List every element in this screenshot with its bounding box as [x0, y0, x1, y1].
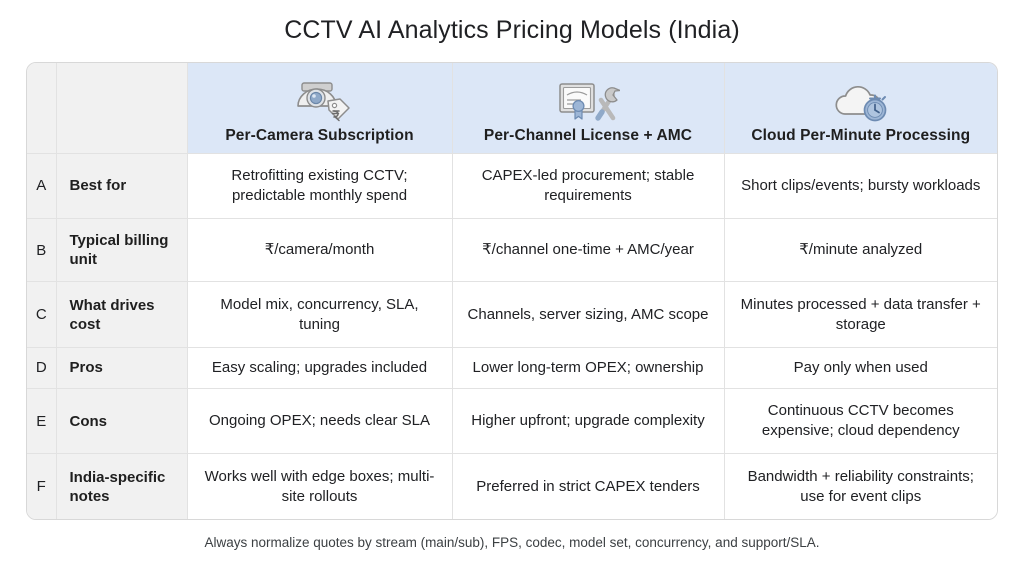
- table-row: A Best for Retrofitting existing CCTV; p…: [27, 153, 997, 219]
- column-header-label: Cloud Per-Minute Processing: [751, 127, 970, 145]
- column-header-label: Per-Camera Subscription: [225, 127, 413, 145]
- table-row: E Cons Ongoing OPEX; needs clear SLA Hig…: [27, 388, 997, 454]
- cell-cloud: Short clips/events; bursty workloads: [724, 153, 997, 219]
- cell-per-camera: Works well with edge boxes; multi-site r…: [187, 454, 452, 519]
- row-label: India-specific notes: [56, 454, 187, 519]
- row-letter: F: [27, 454, 56, 519]
- column-header-label: Per-Channel License + AMC: [484, 127, 692, 145]
- column-header-per-channel-license-amc[interactable]: Per-Channel License + AMC: [452, 63, 724, 153]
- table-row: F India-specific notes Works well with e…: [27, 454, 997, 519]
- cell-cloud: Bandwidth + reliability constraints; use…: [724, 454, 997, 519]
- table-row: C What drives cost Model mix, concurrenc…: [27, 282, 997, 348]
- row-letter: D: [27, 347, 56, 388]
- cell-per-camera: Retrofitting existing CCTV; predictable …: [187, 153, 452, 219]
- cell-cloud: Minutes processed + data transfer + stor…: [724, 282, 997, 348]
- cell-per-camera: Model mix, concurrency, SLA, tuning: [187, 282, 452, 348]
- table-row: D Pros Easy scaling; upgrades included L…: [27, 347, 997, 388]
- column-header-per-camera-subscription[interactable]: Per-Camera Subscription: [187, 63, 452, 153]
- row-letter: A: [27, 153, 56, 219]
- pricing-comparison-page: CCTV AI Analytics Pricing Models (India): [0, 0, 1024, 572]
- row-letter: B: [27, 219, 56, 282]
- dome-camera-price-tag-icon: [288, 79, 352, 125]
- cell-per-channel: Channels, server sizing, AMC scope: [452, 282, 724, 348]
- cell-per-channel: Higher upfront; upgrade complexity: [452, 388, 724, 454]
- page-title: CCTV AI Analytics Pricing Models (India): [0, 0, 1024, 46]
- row-label: Typical billing unit: [56, 219, 187, 282]
- row-label: Best for: [56, 153, 187, 219]
- row-label: What drives cost: [56, 282, 187, 348]
- table-header-row: Per-Camera Subscription: [27, 63, 997, 153]
- row-label: Pros: [56, 347, 187, 388]
- cell-per-channel: ₹/channel one-time + AMC/year: [452, 219, 724, 282]
- certificate-tools-icon: [556, 79, 620, 125]
- cell-per-channel: Preferred in strict CAPEX tenders: [452, 454, 724, 519]
- cell-cloud: ₹/minute analyzed: [724, 219, 997, 282]
- pricing-comparison-table: Per-Camera Subscription: [26, 62, 998, 520]
- cell-per-camera: Easy scaling; upgrades included: [187, 347, 452, 388]
- table-row: B Typical billing unit ₹/camera/month ₹/…: [27, 219, 997, 282]
- cell-per-camera: Ongoing OPEX; needs clear SLA: [187, 388, 452, 454]
- cell-per-camera: ₹/camera/month: [187, 219, 452, 282]
- footer-note: Always normalize quotes by stream (main/…: [0, 534, 1024, 552]
- header-corner-label: [56, 63, 187, 153]
- row-label: Cons: [56, 388, 187, 454]
- row-letter: C: [27, 282, 56, 348]
- cloud-stopwatch-icon: [829, 79, 893, 125]
- row-letter: E: [27, 388, 56, 454]
- column-header-cloud-per-minute-processing[interactable]: Cloud Per-Minute Processing: [724, 63, 997, 153]
- cell-per-channel: CAPEX-led procurement; stable requiremen…: [452, 153, 724, 219]
- cell-cloud: Pay only when used: [724, 347, 997, 388]
- cell-cloud: Continuous CCTV becomes expensive; cloud…: [724, 388, 997, 454]
- cell-per-channel: Lower long-term OPEX; ownership: [452, 347, 724, 388]
- header-corner-letter: [27, 63, 56, 153]
